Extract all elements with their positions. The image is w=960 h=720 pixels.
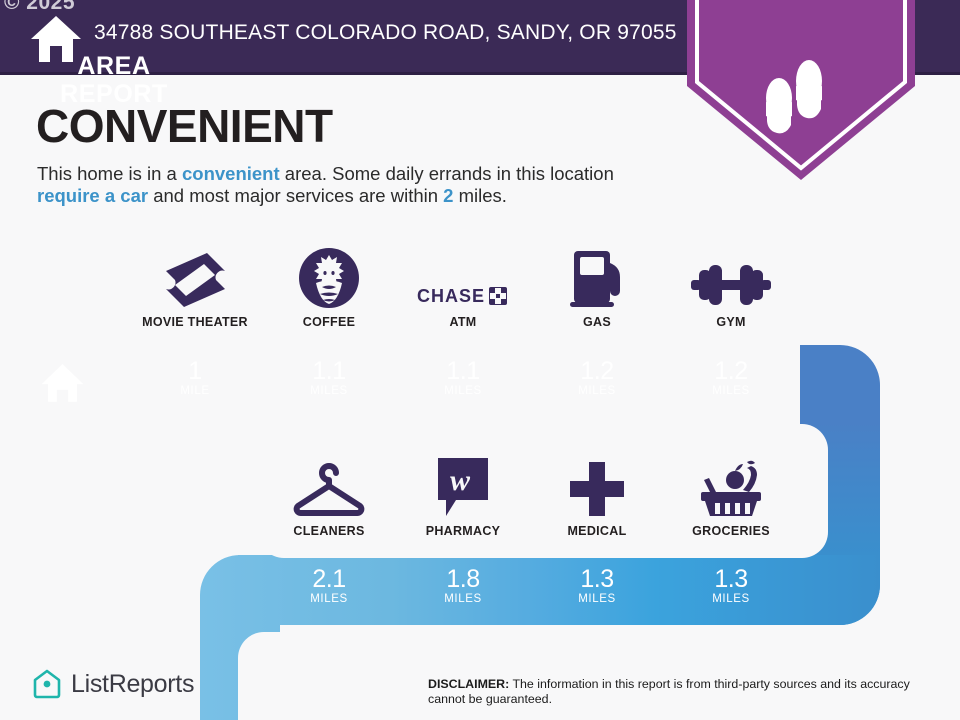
dumbbell-icon: [664, 243, 798, 309]
subtitle-part-1: This home is in a: [37, 163, 182, 184]
distance-value: 1.2: [530, 358, 664, 384]
svg-text:w: w: [450, 464, 471, 497]
chase-logo-icon: CHASE: [396, 243, 530, 309]
distance-coffee: 1.1 MILES: [262, 358, 396, 397]
starbucks-icon: [262, 243, 396, 309]
amenity-label: GROCERIES: [664, 524, 798, 538]
amenity-label: GAS: [530, 315, 664, 329]
subtitle-highlight-3: 2: [443, 185, 453, 206]
amenity-atm: CHASE ATM: [396, 243, 530, 329]
amenity-label: PHARMACY: [396, 524, 530, 538]
distance-value: 1.3: [664, 566, 798, 592]
property-address: 34788 SOUTHEAST COLORADO ROAD, SANDY, OR…: [94, 21, 677, 45]
medical-cross-icon: [530, 452, 664, 518]
distance-unit: MILES: [664, 593, 798, 605]
home-icon: [28, 10, 84, 66]
distance-groceries: 1.3 MILES: [664, 566, 798, 605]
amenity-gym: GYM: [664, 243, 798, 329]
amenity-label: CLEANERS: [262, 524, 396, 538]
distance-pharmacy: 1.8 MILES: [396, 566, 530, 605]
subtitle-part-3: and most major services are within: [148, 185, 443, 206]
gas-pump-icon: [530, 243, 664, 309]
copyright-watermark: © 2025: [4, 0, 75, 15]
subtitle-highlight-2: require a car: [37, 185, 148, 206]
home-icon: [40, 360, 85, 405]
distance-value: 1: [128, 358, 262, 384]
distance-movie-theater: 1 MILE: [128, 358, 262, 397]
distance-value: 1.1: [396, 358, 530, 384]
distance-unit: MILES: [262, 385, 396, 397]
amenity-gas: GAS: [530, 243, 664, 329]
page-title: CONVENIENT: [36, 99, 333, 153]
amenity-pharmacy: w PHARMACY: [396, 452, 530, 538]
area-report-badge: [687, 0, 915, 186]
amenity-label: COFFEE: [262, 315, 396, 329]
distance-gas: 1.2 MILES: [530, 358, 664, 397]
disclaimer-label: DISCLAIMER:: [428, 677, 509, 691]
amenity-medical: MEDICAL: [530, 452, 664, 538]
listreports-logo[interactable]: ListReports: [32, 668, 194, 700]
area-report-page: 34788 SOUTHEAST COLORADO ROAD, SANDY, OR…: [0, 0, 960, 720]
clothes-hanger-icon: [262, 452, 396, 518]
distance-unit: MILES: [262, 593, 396, 605]
distance-value: 1.3: [530, 566, 664, 592]
subtitle-part-4: miles.: [453, 185, 506, 206]
distance-value: 1.8: [396, 566, 530, 592]
subtitle-part-2: area. Some daily errands in this locatio…: [280, 163, 614, 184]
distance-atm: 1.1 MILES: [396, 358, 530, 397]
page-subtitle: This home is in a convenient area. Some …: [37, 163, 677, 207]
distance-unit: MILES: [396, 385, 530, 397]
subtitle-highlight-1: convenient: [182, 163, 280, 184]
amenity-label: GYM: [664, 315, 798, 329]
distance-unit: MILES: [664, 385, 798, 397]
amenity-label: MEDICAL: [530, 524, 664, 538]
distance-unit: MILES: [396, 593, 530, 605]
grocery-basket-icon: [664, 452, 798, 518]
distance-value: 1.2: [664, 358, 798, 384]
distance-unit: MILE: [128, 385, 262, 397]
amenity-label: ATM: [396, 315, 530, 329]
listreports-house-icon: [32, 668, 62, 700]
distance-unit: MILES: [530, 385, 664, 397]
listreports-wordmark: ListReports: [71, 670, 194, 699]
disclaimer: DISCLAIMER: The information in this repo…: [428, 677, 928, 707]
amenity-label: MOVIE THEATER: [128, 315, 262, 329]
walgreens-icon: w: [396, 452, 530, 518]
amenity-coffee: COFFEE: [262, 243, 396, 329]
amenity-cleaners: CLEANERS: [262, 452, 396, 538]
distance-value: 1.1: [262, 358, 396, 384]
svg-text:CHASE: CHASE: [417, 286, 485, 306]
amenity-groceries: GROCERIES: [664, 452, 798, 538]
amenity-movie-theater: MOVIE THEATER: [128, 243, 262, 329]
distance-value: 2.1: [262, 566, 396, 592]
distance-medical: 1.3 MILES: [530, 566, 664, 605]
distance-unit: MILES: [530, 593, 664, 605]
movie-ticket-icon: [128, 243, 262, 309]
distance-cleaners: 2.1 MILES: [262, 566, 396, 605]
distance-gym: 1.2 MILES: [664, 358, 798, 397]
